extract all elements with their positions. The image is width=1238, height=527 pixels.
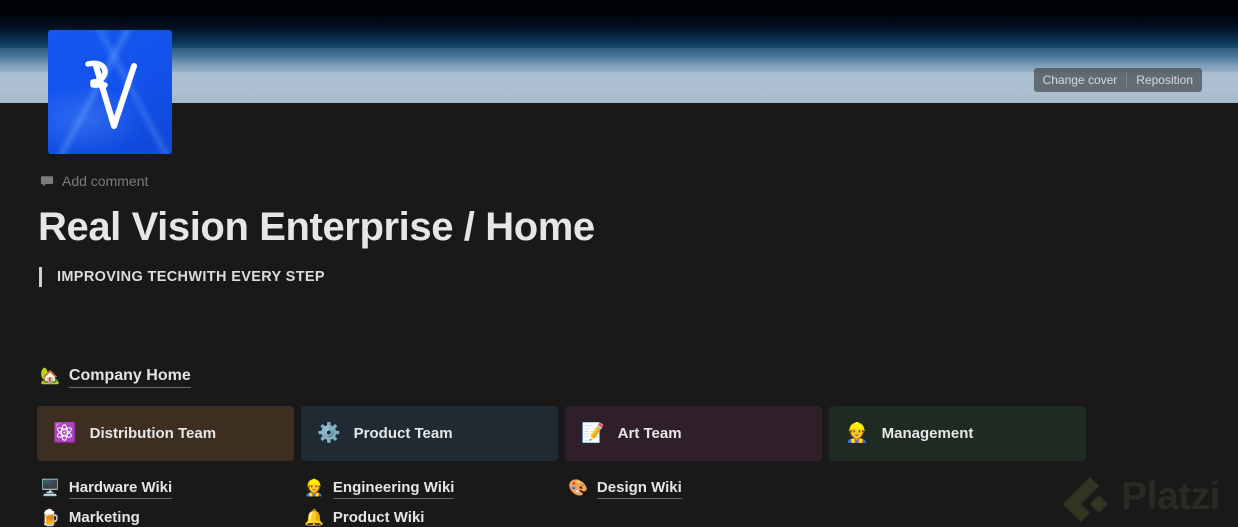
add-comment-button[interactable]: Add comment xyxy=(40,173,148,189)
atom-symbol-emoji: ⚛️ xyxy=(53,424,77,443)
wiki-column: 🎨 Design Wiki xyxy=(568,478,825,527)
notion-page: Change cover Reposition Add comment Real… xyxy=(0,0,1238,527)
company-home-label: Company Home xyxy=(69,366,191,388)
sidebar-item-company-home[interactable]: 🏡 Company Home xyxy=(40,366,191,388)
team-card-art[interactable]: 📝 Art Team xyxy=(565,406,822,461)
wiki-link-engineering[interactable]: 👷 Engineering Wiki xyxy=(304,478,454,499)
page-content: Add comment Real Vision Enterprise / Hom… xyxy=(0,103,1238,527)
wiki-column-empty xyxy=(832,478,1089,527)
wiki-column: 🖥️ Hardware Wiki 🍺 Marketing xyxy=(40,478,297,527)
team-card-label: Distribution Team xyxy=(90,424,216,444)
team-card-label: Art Team xyxy=(618,424,682,444)
construction-worker-emoji: 👷 xyxy=(304,481,324,497)
team-card-product[interactable]: ⚙️ Product Team xyxy=(301,406,558,461)
wiki-link-marketing[interactable]: 🍺 Marketing xyxy=(40,508,140,527)
page-cover-image[interactable]: Change cover Reposition xyxy=(0,0,1238,103)
artist-palette-emoji: 🎨 xyxy=(568,481,588,497)
beer-mug-emoji: 🍺 xyxy=(40,511,60,527)
page-title[interactable]: Real Vision Enterprise / Home xyxy=(38,203,1238,251)
construction-worker-emoji: 👷 xyxy=(845,424,869,443)
wiki-link-design[interactable]: 🎨 Design Wiki xyxy=(568,478,682,499)
bell-emoji: 🔔 xyxy=(304,511,324,527)
wiki-link-hardware[interactable]: 🖥️ Hardware Wiki xyxy=(40,478,172,499)
team-card-label: Product Team xyxy=(354,424,453,444)
team-card-grid: ⚛️ Distribution Team ⚙️ Product Team 📝 A… xyxy=(37,406,1238,461)
team-card-label: Management xyxy=(882,424,974,444)
memo-emoji: 📝 xyxy=(581,424,605,443)
wiki-link-label: Design Wiki xyxy=(597,478,682,499)
wiki-link-label: Hardware Wiki xyxy=(69,478,172,499)
gears-emoji: ⚙️ xyxy=(317,424,341,443)
comment-bubble-icon xyxy=(40,174,54,188)
add-comment-label: Add comment xyxy=(62,173,148,189)
wiki-link-grid: 🖥️ Hardware Wiki 🍺 Marketing 👷 Engineeri… xyxy=(40,478,1238,527)
reposition-button[interactable]: Reposition xyxy=(1127,68,1202,92)
wiki-column: 👷 Engineering Wiki 🔔 Product Wiki xyxy=(304,478,561,527)
change-cover-button[interactable]: Change cover xyxy=(1034,68,1127,92)
team-card-distribution[interactable]: ⚛️ Distribution Team xyxy=(37,406,294,461)
cover-action-bar: Change cover Reposition xyxy=(1034,68,1202,92)
desktop-computer-emoji: 🖥️ xyxy=(40,481,60,497)
wiki-link-label: Marketing xyxy=(69,508,140,527)
wiki-link-label: Engineering Wiki xyxy=(333,478,455,499)
wiki-link-product[interactable]: 🔔 Product Wiki xyxy=(304,508,424,527)
house-with-garden-emoji: 🏡 xyxy=(40,369,60,385)
wiki-link-label: Product Wiki xyxy=(333,508,425,527)
team-card-management[interactable]: 👷 Management xyxy=(829,406,1086,461)
page-quote-block: IMPROVING TECHWITH EVERY STEP xyxy=(39,267,1238,287)
